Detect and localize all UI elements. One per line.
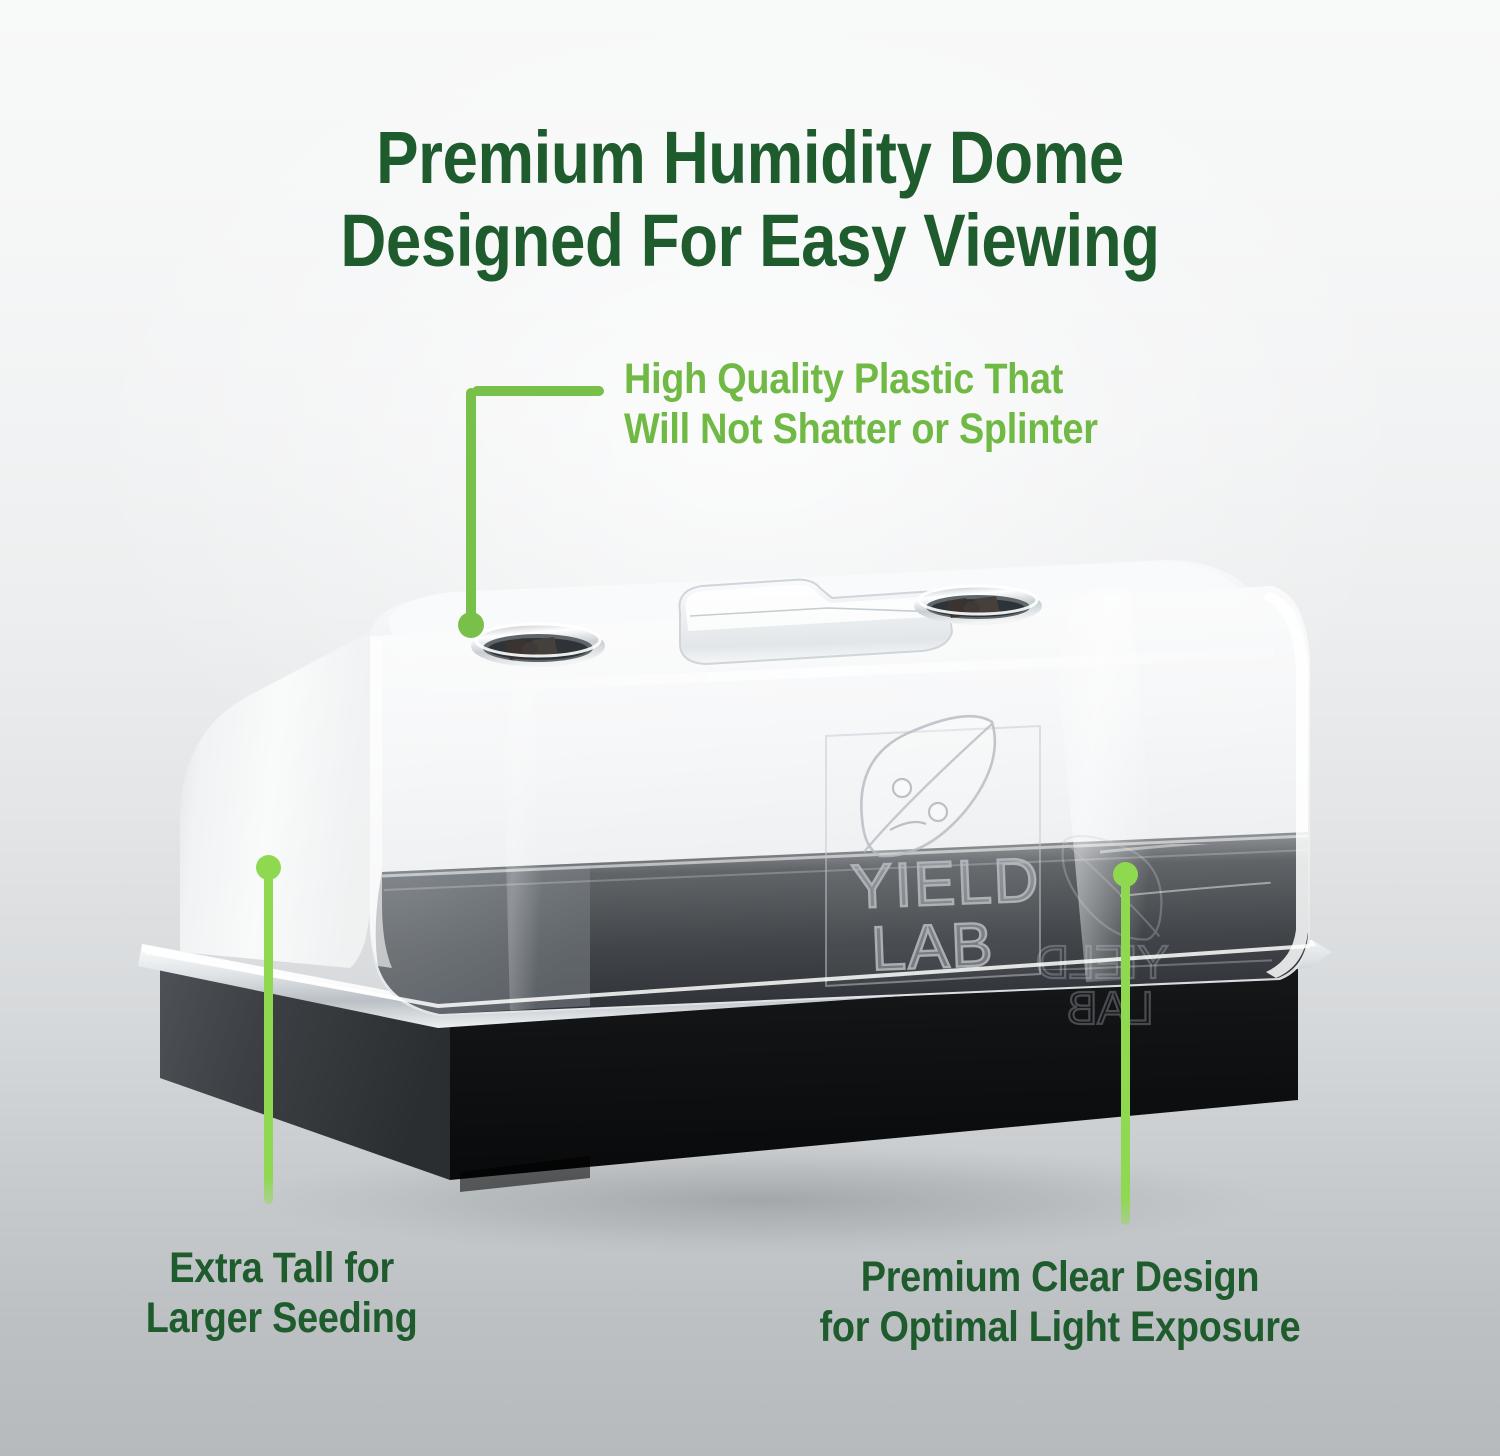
page-title-line-1: Premium Humidity Dome: [105, 116, 1395, 200]
infographic-canvas: Premium Humidity Dome Designed For Easy …: [0, 0, 1500, 1456]
vent-left: [471, 624, 605, 667]
page-title-line-2: Designed For Easy Viewing: [105, 199, 1395, 283]
leader-dot-extra-tall: [256, 855, 281, 880]
leader-line-plastic-vertical: [466, 388, 476, 626]
callout-extra-tall: Extra Tall for Larger Seeding: [110, 1243, 453, 1344]
vent-right: [914, 586, 1042, 625]
callout-premium-clear-design: Premium Clear Design for Optimal Light E…: [752, 1252, 1368, 1353]
dome-left-face: [180, 632, 370, 968]
leader-line-plastic-horizontal: [472, 386, 604, 396]
product-image-humidity-dome: YIELD LAB YIELD LAB: [120, 500, 1380, 1260]
brand-emboss-panel: YIELD LAB: [826, 716, 1042, 986]
callout-extra-tall-line-2: Larger Seeding: [110, 1293, 453, 1343]
callout-premium-clear-design-line-1: Premium Clear Design: [752, 1252, 1368, 1302]
callout-extra-tall-line-1: Extra Tall for: [110, 1243, 453, 1293]
leader-line-clear-design: [1121, 873, 1130, 1225]
callout-high-quality-plastic-line-1: High Quality Plastic That: [624, 354, 1098, 404]
callout-high-quality-plastic: High Quality Plastic That Will Not Shatt…: [624, 354, 1098, 455]
brand-wordmark-line-1: YIELD: [850, 846, 1042, 922]
callout-high-quality-plastic-line-2: Will Not Shatter or Splinter: [624, 404, 1098, 454]
svg-text:LAB: LAB: [1067, 982, 1154, 1034]
dome-top-handle: [679, 580, 952, 664]
callout-premium-clear-design-line-2: for Optimal Light Exposure: [752, 1302, 1368, 1352]
leader-dot-clear-design: [1113, 862, 1138, 887]
leader-dot-plastic: [458, 612, 484, 638]
page-title: Premium Humidity Dome Designed For Easy …: [105, 116, 1395, 283]
vent-left-knob: [522, 642, 538, 656]
leader-line-extra-tall: [264, 866, 273, 1204]
